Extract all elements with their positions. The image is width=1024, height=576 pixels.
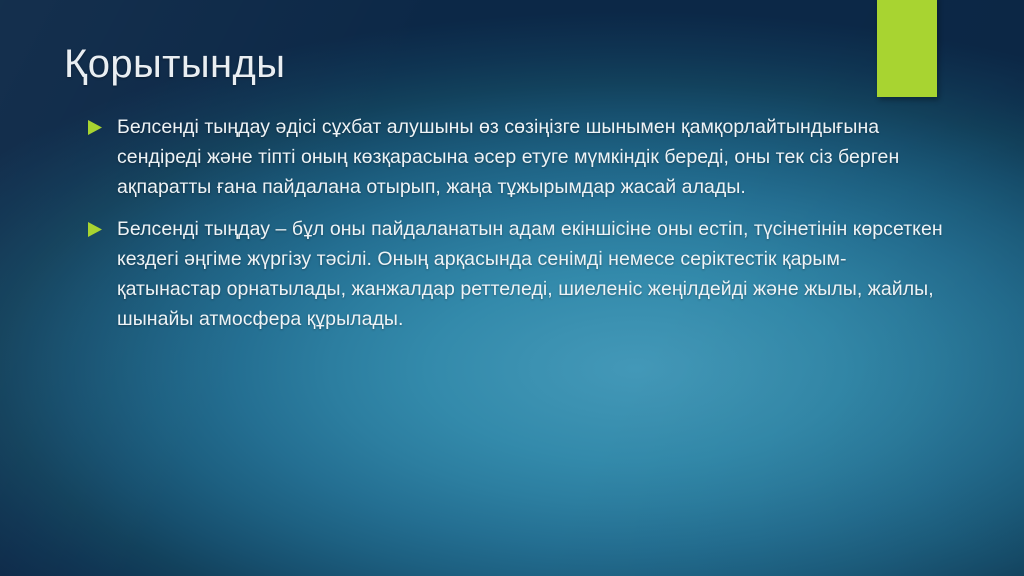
presentation-slide: Қорытынды Белсенді тыңдау әдісі сұхбат а… [0, 0, 1024, 576]
bullet-paragraph: Белсенді тыңдау әдісі сұхбат алушыны өз … [117, 112, 950, 202]
triangle-bullet-icon [88, 222, 102, 237]
bullet-list-item: Белсенді тыңдау – бұл оны пайдаланатын а… [88, 214, 950, 334]
slide-body: Белсенді тыңдау әдісі сұхбат алушыны өз … [88, 112, 950, 346]
slide-title: Қорытынды [64, 42, 285, 87]
bullet-list-item: Белсенді тыңдау әдісі сұхбат алушыны өз … [88, 112, 950, 202]
bullet-paragraph: Белсенді тыңдау – бұл оны пайдаланатын а… [117, 214, 950, 334]
accent-rectangle [877, 0, 937, 97]
triangle-bullet-icon [88, 120, 102, 135]
